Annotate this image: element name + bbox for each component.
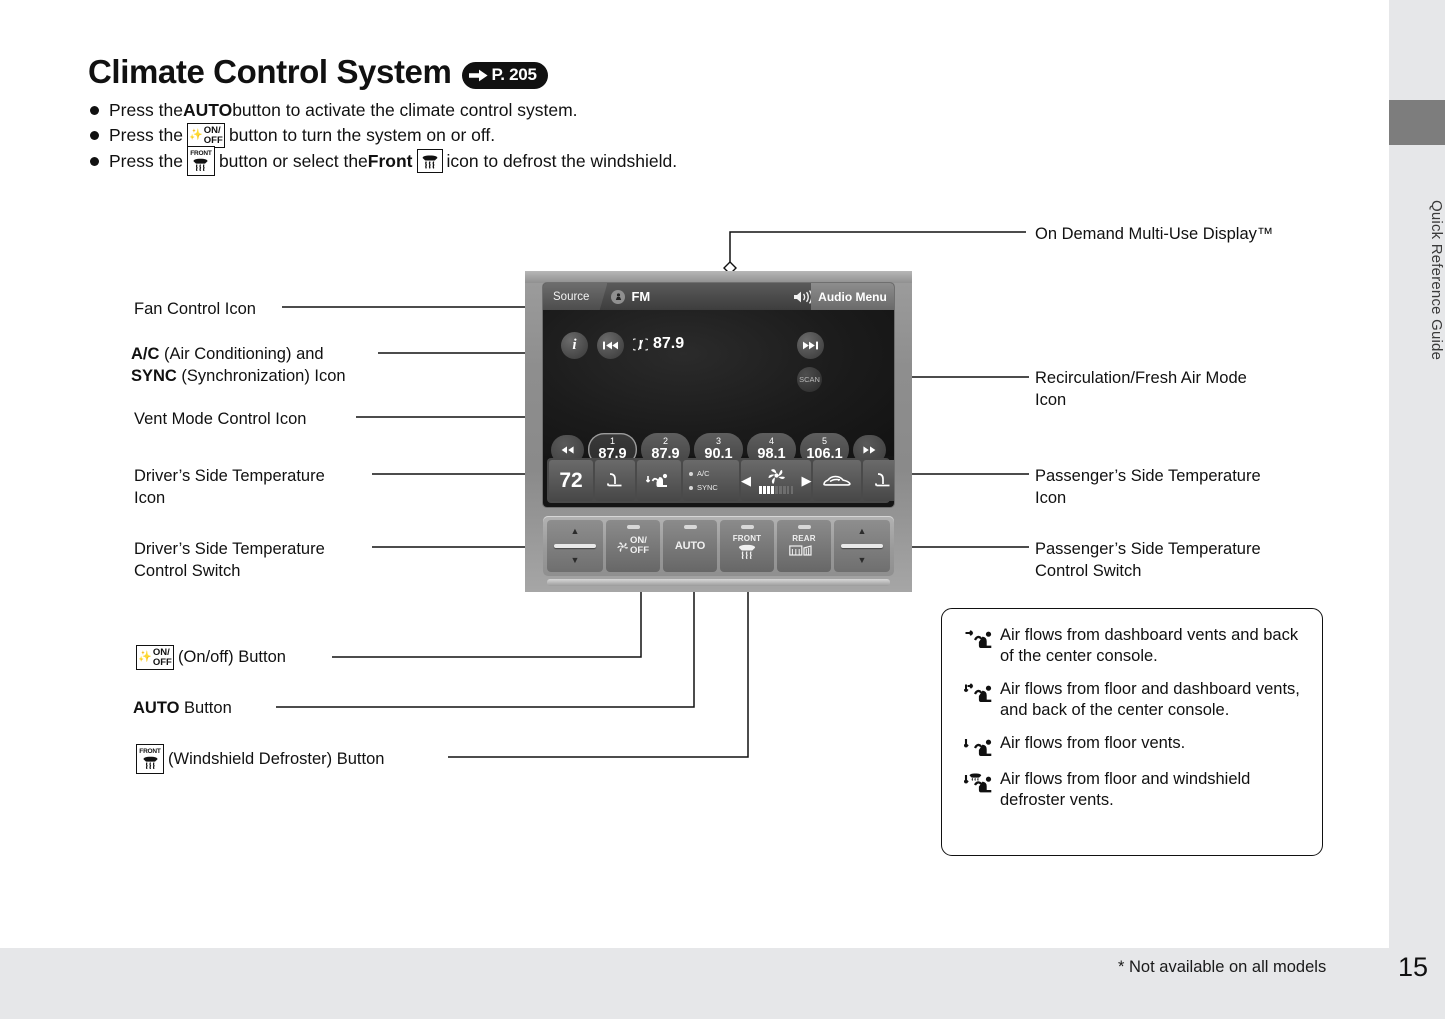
rewind-icon: [561, 446, 574, 454]
frequency-value: 87.9: [653, 335, 684, 353]
legend-text: Air flows from floor vents.: [1000, 733, 1185, 754]
ac-row[interactable]: A/C: [689, 469, 710, 478]
callout-line-1: Passenger’s Side Temperature: [1035, 465, 1261, 487]
callout-driver-temp-switch: Driver’s Side Temperature Control Switch: [134, 538, 325, 583]
source-label: Source: [553, 291, 589, 303]
signal-icon: [633, 338, 648, 351]
callout-text: On Demand Multi-Use Display™: [1035, 225, 1273, 243]
rear-label: REAR: [792, 534, 815, 543]
rocker-up-icon[interactable]: ▲: [858, 527, 867, 536]
source-button[interactable]: Source: [543, 283, 607, 310]
rear-defroster-icon: [789, 544, 819, 558]
arrow-right-icon: [469, 69, 488, 82]
bullet-defroster: Press the FRONT button or select the Fro…: [90, 146, 677, 176]
volume-speaker-icon[interactable]: [793, 290, 813, 309]
callout-defroster-button: FRONT (Windshield Defroster) Button: [132, 744, 384, 774]
bullet-dot: [90, 106, 99, 115]
fast-forward-icon: [863, 446, 876, 454]
callout-text: (Synchronization) Icon: [177, 367, 346, 385]
preset-number: 2: [663, 437, 668, 446]
callout-bold: AUTO: [133, 699, 179, 717]
auto-label: AUTO: [675, 540, 705, 552]
recirculation-icon: [821, 472, 853, 490]
next-button[interactable]: [797, 332, 824, 359]
bullet-2-post: button to turn the system on or off.: [229, 125, 495, 146]
defroster-glyph: [192, 158, 209, 171]
preset-number: 3: [716, 437, 721, 446]
fan-control-icon[interactable]: ◀ ▶: [741, 460, 811, 501]
physical-control-panel: ▲ ▼ ON/ OFF: [543, 516, 894, 576]
callout-text: Vent Mode Control Icon: [134, 410, 306, 428]
callout-line-1: Passenger’s Side Temperature: [1035, 538, 1261, 560]
preset-number: 5: [822, 437, 827, 446]
ac-sync-icon[interactable]: A/C SYNC: [683, 460, 739, 501]
bullet-3-pre: Press the: [109, 151, 183, 172]
callout-recirculation-icon: Recirculation/Fresh Air Mode Icon: [1035, 367, 1247, 412]
bullet-3-post: icon to defrost the windshield.: [447, 151, 678, 172]
callout-line-2: Control Switch: [1035, 560, 1261, 582]
airflow-floor-dashboard-icon: [958, 679, 1000, 704]
rocker-bar: [554, 544, 596, 548]
info-icon: i: [572, 337, 576, 354]
callout-ac-sync-icon: A/C (Air Conditioning) and SYNC (Synchro…: [131, 343, 346, 388]
heated-seat-icon: [605, 471, 625, 491]
bullet-dot: [90, 131, 99, 140]
title-row: Climate Control System P. 205: [88, 53, 548, 91]
airflow-floor-icon: [958, 733, 1000, 758]
rocker-down-icon[interactable]: ▼: [571, 556, 580, 565]
defroster-glyph: [421, 154, 439, 169]
fan-onoff-button-icon: ✨ ON/OFF: [187, 123, 225, 148]
vent-mode-control-icon[interactable]: [637, 460, 681, 501]
rocker-up-icon[interactable]: ▲: [571, 527, 580, 536]
ac-indicator-led: [689, 472, 693, 476]
ac-label: A/C: [697, 469, 710, 478]
sync-row[interactable]: SYNC: [689, 483, 718, 492]
screen-body: i 87.9: [543, 310, 894, 456]
fan-onoff-button-icon: ✨ ON/OFF: [136, 645, 174, 670]
legend-row: Air flows from floor vents.: [958, 733, 1308, 758]
button-indicator: [798, 525, 811, 529]
front-defroster-icon: [735, 544, 759, 559]
fan-onoff-button[interactable]: ON/ OFF: [606, 520, 660, 572]
on-demand-multi-use-display-photo: Source FM Audio M: [525, 271, 912, 592]
legend-row: Air flows from floor and windshield defr…: [958, 769, 1308, 812]
callout-text: (Air Conditioning) and: [159, 345, 323, 363]
driver-temperature-icon[interactable]: 72: [549, 460, 593, 501]
device-bezel: [525, 271, 912, 283]
legend-row: Air flows from dashboard vents and back …: [958, 625, 1308, 668]
callout-onoff-button: ✨ ON/OFF (On/off) Button: [132, 645, 286, 670]
climate-control-bar: 72: [547, 458, 890, 503]
callout-fan-control-icon: Fan Control Icon: [134, 298, 256, 320]
page-title: Climate Control System: [88, 53, 451, 91]
preset-number: 1: [610, 437, 615, 446]
callout-on-demand-display: On Demand Multi-Use Display™: [1035, 223, 1273, 245]
bullet-1-bold: AUTO: [183, 100, 232, 121]
legend-row: Air flows from floor and dashboard vents…: [958, 679, 1308, 722]
legend-text: Air flows from dashboard vents and back …: [1000, 625, 1308, 668]
page-number: 15: [1398, 952, 1428, 983]
sidebar-section-tab: [1389, 100, 1445, 145]
rocker-down-icon[interactable]: ▼: [858, 556, 867, 565]
front-defroster-button-icon: FRONT: [136, 744, 164, 774]
defroster-glyph: [142, 756, 159, 769]
button-indicator: [741, 525, 754, 529]
previous-button[interactable]: [597, 332, 624, 359]
callout-line-2: Icon: [1035, 389, 1247, 411]
callout-line-1: A/C (Air Conditioning) and: [131, 343, 346, 365]
audio-menu-label: Audio Menu: [818, 290, 887, 304]
fan-decrease-button[interactable]: ◀: [741, 473, 751, 489]
info-button[interactable]: i: [561, 332, 588, 359]
airflow-floor-defroster-icon: [958, 769, 1000, 794]
passenger-heated-seat-icon[interactable]: [863, 460, 894, 501]
button-indicator: [627, 525, 640, 529]
fan-icon: [767, 467, 786, 484]
page-reference-label: P. 205: [491, 65, 536, 85]
callout-text: Button: [179, 699, 231, 717]
bullet-3-mid: button or select the: [219, 151, 368, 172]
fan-blade-glyph: ✨: [138, 652, 152, 663]
recirculation-fresh-air-icon[interactable]: [813, 460, 861, 501]
band-indicator: FM: [611, 289, 650, 304]
screen-top-bar: Source FM Audio M: [543, 283, 894, 310]
previous-icon: [603, 341, 618, 350]
callout-line-2: SYNC (Synchronization) Icon: [131, 365, 346, 387]
manual-page: Quick Reference Guide * Not available on…: [0, 0, 1445, 1019]
rocker-bar: [841, 544, 883, 548]
callout-line-2: Icon: [1035, 487, 1261, 509]
bullet-3-bold: Front: [368, 151, 413, 172]
callout-line-1: Driver’s Side Temperature: [134, 465, 325, 487]
legend-text: Air flows from floor and windshield defr…: [1000, 769, 1308, 812]
sync-label: SYNC: [697, 483, 718, 492]
auto-button[interactable]: AUTO: [663, 520, 717, 572]
current-frequency: 87.9: [633, 335, 684, 353]
bullet-1-post: button to activate the climate control s…: [232, 100, 577, 121]
onoff-text: ON/OFF: [204, 126, 223, 145]
button-indicator: [684, 525, 697, 529]
rear-defroster-button[interactable]: REAR: [777, 520, 831, 572]
callout-line-1: Driver’s Side Temperature: [134, 538, 325, 560]
callout-line-1: Recirculation/Fresh Air Mode: [1035, 367, 1247, 389]
scan-label: SCAN: [799, 375, 820, 384]
legend-text: Air flows from floor and dashboard vents…: [1000, 679, 1308, 722]
callout-passenger-temp-switch: Passenger’s Side Temperature Control Swi…: [1035, 538, 1261, 583]
callout-bold: SYNC: [131, 367, 177, 385]
callout-bold: A/C: [131, 345, 159, 363]
footer-note: * Not available on all models: [1118, 958, 1326, 977]
sync-indicator-led: [689, 486, 693, 490]
fan-blade-icon: [617, 541, 628, 552]
touchscreen[interactable]: Source FM Audio M: [543, 283, 894, 507]
callout-driver-temp-icon: Driver’s Side Temperature Icon: [134, 465, 325, 510]
preset-number: 4: [769, 437, 774, 446]
front-defroster-button[interactable]: FRONT: [720, 520, 774, 572]
callout-text: (On/off) Button: [178, 646, 286, 668]
callout-auto-button: AUTO Button: [133, 697, 232, 719]
callout-line-2: Icon: [134, 487, 325, 509]
next-icon: [803, 341, 818, 350]
off-label: OFF: [630, 546, 649, 556]
driver-heated-seat-icon[interactable]: [595, 460, 635, 501]
front-defroster-button-icon: FRONT: [187, 146, 215, 176]
bullet-dot: [90, 157, 99, 166]
callout-text: Fan Control Icon: [134, 300, 256, 318]
scan-button[interactable]: SCAN: [797, 367, 822, 392]
radio-antenna-icon: [611, 290, 625, 304]
bullet-1-pre: Press the: [109, 100, 183, 121]
airflow-legend-box: Air flows from dashboard vents and back …: [941, 608, 1323, 856]
sidebar-label: Quick Reference Guide: [1389, 148, 1445, 408]
passenger-temperature-control-switch[interactable]: ▲ ▼: [834, 520, 890, 572]
driver-temperature-value: 72: [559, 469, 582, 493]
fan-level-group: [759, 467, 793, 494]
band-label: FM: [631, 289, 650, 304]
fan-level-bars: [759, 486, 793, 494]
airflow-dashboard-icon: [958, 625, 1000, 650]
fan-blade-glyph: ✨: [189, 130, 203, 141]
callout-vent-mode-icon: Vent Mode Control Icon: [134, 408, 306, 430]
audio-menu-button[interactable]: Audio Menu: [811, 283, 894, 310]
page-reference-badge[interactable]: P. 205: [462, 62, 547, 89]
front-defrost-screen-icon: [417, 149, 443, 173]
callout-line-2: Control Switch: [134, 560, 325, 582]
onoff-group: ON/ OFF: [617, 536, 649, 556]
bullet-auto: Press the AUTO button to activate the cl…: [90, 100, 578, 121]
callout-text: (Windshield Defroster) Button: [168, 748, 384, 770]
bullet-2-pre: Press the: [109, 125, 183, 146]
vent-mode-icon: [646, 471, 672, 491]
onoff-text: ON/ OFF: [630, 536, 649, 556]
console-trim-strip: [547, 579, 890, 586]
front-label: FRONT: [733, 534, 762, 543]
bullet-onoff: Press the ✨ ON/OFF button to turn the sy…: [90, 123, 495, 148]
heated-seat-icon: [873, 471, 893, 491]
callout-passenger-temp-icon: Passenger’s Side Temperature Icon: [1035, 465, 1261, 510]
onoff-text: ON/OFF: [153, 648, 172, 667]
fan-increase-button[interactable]: ▶: [801, 473, 811, 489]
driver-temperature-control-switch[interactable]: ▲ ▼: [547, 520, 603, 572]
